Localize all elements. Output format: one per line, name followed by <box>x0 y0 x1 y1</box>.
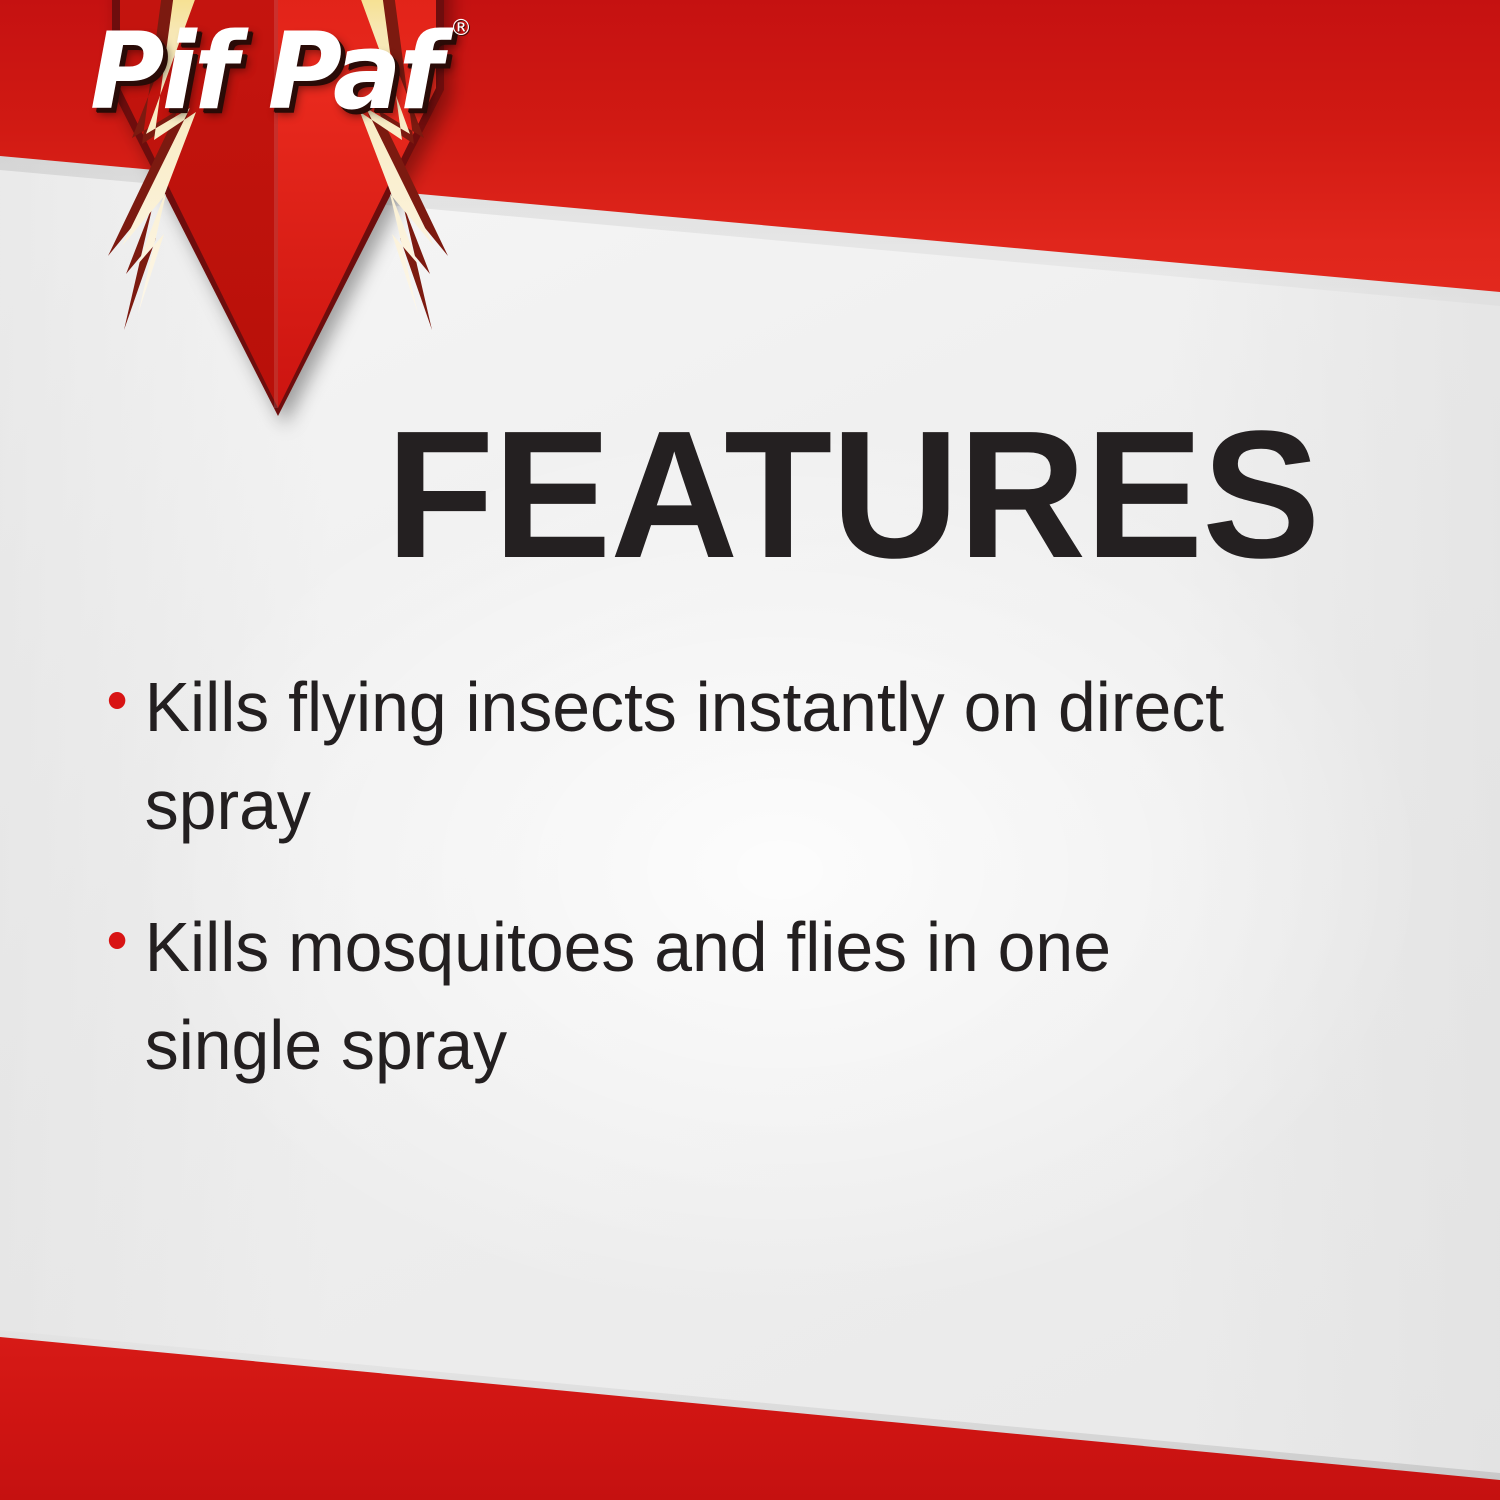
feature-text: Kills flying insects instantly on direct… <box>145 668 1224 844</box>
registered-trademark-icon: ® <box>450 16 472 41</box>
bottom-red-diagonal-band <box>0 1320 1500 1500</box>
bottom-band-shadow <box>0 1310 1500 1500</box>
list-item: Kills flying insects instantly on direct… <box>104 658 1258 854</box>
feature-text: Kills mosquitoes and flies in one single… <box>145 908 1111 1084</box>
bullet-dot-icon <box>109 932 125 949</box>
page-title: FEATURES <box>386 404 1319 586</box>
product-feature-graphic: Pif Paf ® FEATURES Kills flying insects … <box>0 0 1500 1500</box>
bullet-dot-icon <box>109 692 125 709</box>
list-item: Kills mosquitoes and flies in one single… <box>104 898 1258 1094</box>
brand-wordmark: Pif Paf <box>90 12 474 132</box>
pif-paf-logo: Pif Paf ® <box>68 0 488 438</box>
feature-list: Kills flying insects instantly on direct… <box>104 658 1294 1138</box>
